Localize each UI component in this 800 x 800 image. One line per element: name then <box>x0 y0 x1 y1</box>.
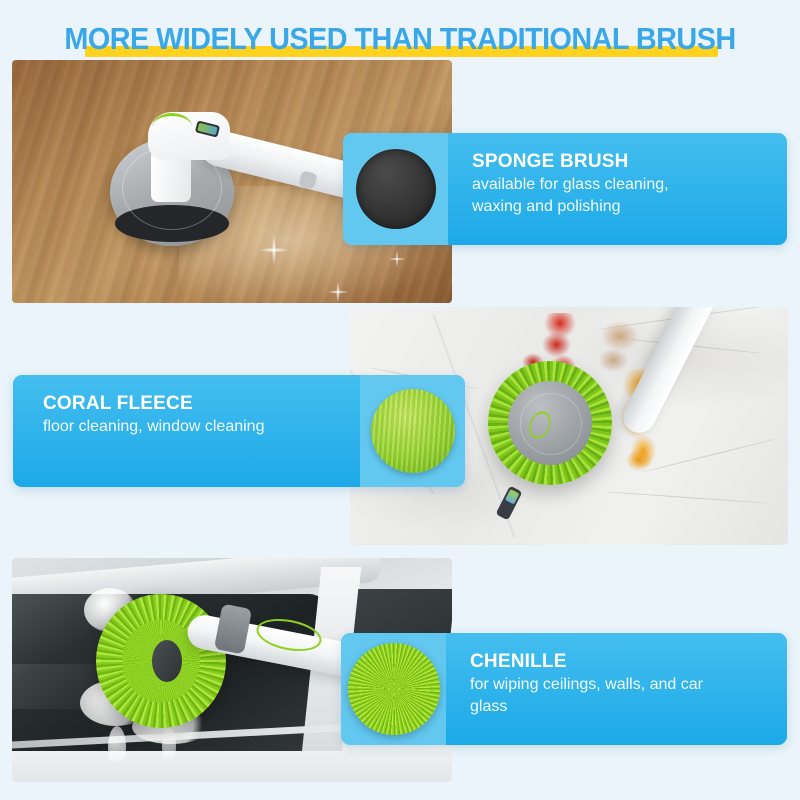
orange-sauce-spill <box>626 449 652 471</box>
callout-description-line: glass <box>470 695 771 717</box>
page-title: MORE WIDELY USED THAN TRADITIONAL BRUSH <box>28 18 772 60</box>
coral-fleece-pad-swatch <box>371 389 455 473</box>
callout-description-line: available for glass cleaning, <box>472 173 771 195</box>
tan-stain-spill <box>592 317 648 377</box>
soap-suds <box>162 728 176 764</box>
brush-hub <box>152 640 182 682</box>
callout-text-pane: SPONGE BRUSH available for glass cleanin… <box>448 133 787 245</box>
callout-description-line: for wiping ceilings, walls, and car <box>470 673 771 695</box>
soap-suds <box>108 726 126 768</box>
sparkle-icon <box>384 246 410 272</box>
callout-description-line: waxing and polishing <box>472 195 771 217</box>
callout-card-sponge-brush: SPONGE BRUSH available for glass cleanin… <box>343 133 787 245</box>
swatch-pane <box>360 375 465 487</box>
callout-description-line: floor cleaning, window cleaning <box>43 415 344 437</box>
sponge-pad-swatch <box>356 149 436 229</box>
callout-title: CHENILLE <box>470 651 771 673</box>
infographic-page: MORE WIDELY USED THAN TRADITIONAL BRUSH … <box>0 0 800 800</box>
chenille-ball-swatch <box>348 643 440 735</box>
callout-text-pane: CORAL FLEECE floor cleaning, window clea… <box>13 375 360 487</box>
callout-card-chenille: CHENILLE for wiping ceilings, walls, and… <box>341 633 787 745</box>
callout-text-pane: CHENILLE for wiping ceilings, walls, and… <box>446 633 787 745</box>
callout-title: SPONGE BRUSH <box>472 151 771 173</box>
sparkle-icon <box>252 228 296 272</box>
sparkle-icon <box>322 276 354 303</box>
callout-title: CORAL FLEECE <box>43 393 344 415</box>
car-door-panel <box>12 751 452 782</box>
swatch-pane <box>343 133 448 245</box>
callout-card-coral-fleece: CORAL FLEECE floor cleaning, window clea… <box>13 375 465 487</box>
swatch-pane <box>341 633 446 745</box>
page-header: MORE WIDELY USED THAN TRADITIONAL BRUSH <box>0 18 800 62</box>
